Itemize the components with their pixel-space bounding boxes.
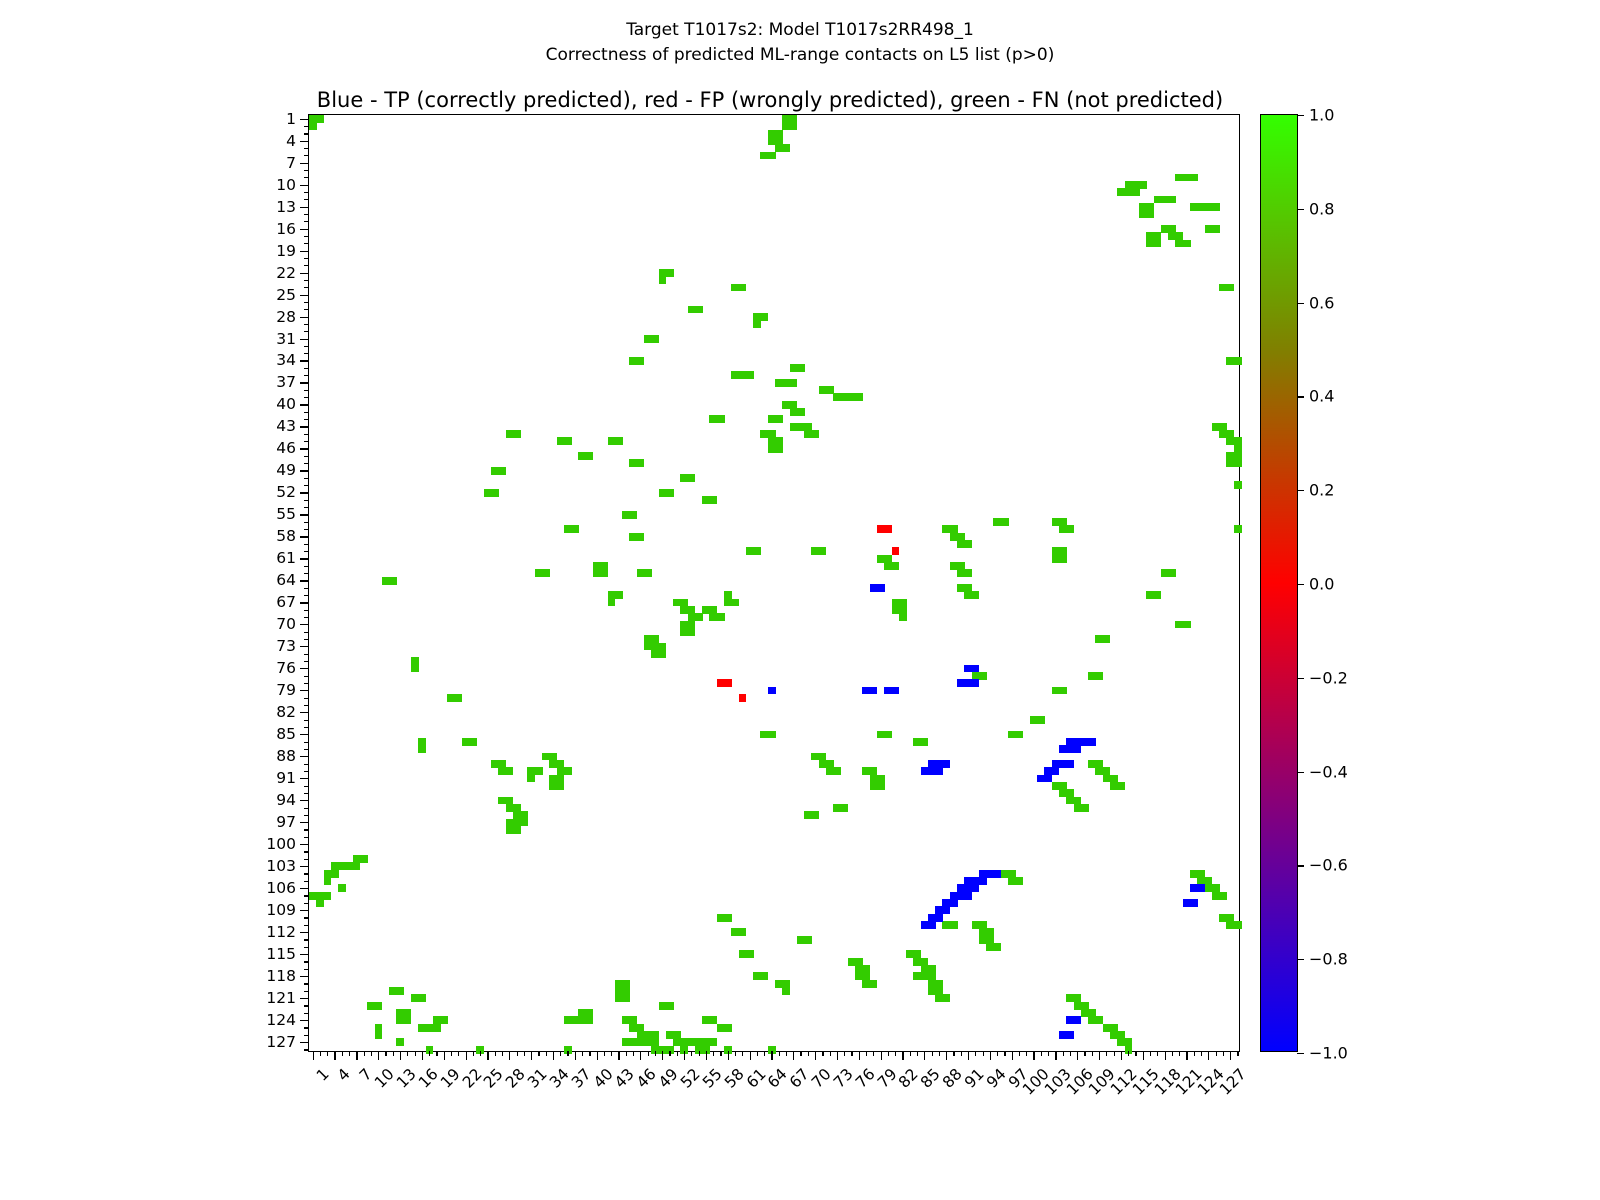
x-tick-minor xyxy=(1114,1051,1115,1056)
contact-cell-fn xyxy=(695,306,703,314)
y-tick-minor xyxy=(304,397,309,398)
contact-cell-tp xyxy=(1088,738,1096,746)
colorbar-tick xyxy=(1297,396,1304,397)
colorbar-tick xyxy=(1297,115,1304,116)
contact-cell-fn xyxy=(775,445,783,453)
contact-cell-tp xyxy=(892,687,900,695)
x-tick-minor xyxy=(648,1051,649,1056)
x-tick-minor xyxy=(364,1051,365,1056)
x-tick-minor xyxy=(800,1051,801,1056)
contact-cell-fn xyxy=(724,1024,732,1032)
contact-cell-fn xyxy=(637,533,645,541)
x-tick-minor xyxy=(524,1051,525,1056)
contact-cell-fn xyxy=(972,591,980,599)
y-tick-minor xyxy=(304,1013,309,1014)
y-tick-minor xyxy=(304,639,309,640)
colorbar-tick xyxy=(1297,865,1304,866)
y-tick-minor xyxy=(304,595,309,596)
contact-cell-fn xyxy=(746,371,754,379)
y-axis-tick-label: 13 xyxy=(276,198,296,216)
contact-cell-fn xyxy=(688,628,696,636)
contact-cell-fn xyxy=(586,452,594,460)
contact-cell-fn xyxy=(440,1016,448,1024)
contact-cell-fn xyxy=(644,569,652,577)
x-tick-minor xyxy=(480,1051,481,1056)
x-tick-minor xyxy=(961,1051,962,1056)
y-tick-major xyxy=(300,163,309,164)
y-tick-major xyxy=(300,602,309,603)
y-tick-major xyxy=(300,800,309,801)
y-tick-minor xyxy=(304,214,309,215)
contact-cell-fn xyxy=(615,591,623,599)
figure-canvas: Target T1017s2: Model T1017s2RR498_1 Cor… xyxy=(0,0,1600,1200)
contact-cell-fn xyxy=(651,1031,659,1039)
x-tick-minor xyxy=(1106,1051,1107,1056)
y-tick-minor xyxy=(304,148,309,149)
x-tick-minor xyxy=(342,1051,343,1056)
y-tick-minor xyxy=(304,829,309,830)
y-tick-minor xyxy=(304,346,309,347)
colorbar-tick-label: 0.2 xyxy=(1309,481,1334,500)
contact-cell-fn xyxy=(1146,210,1154,218)
contact-cell-fn xyxy=(855,393,863,401)
y-axis-tick-label: 118 xyxy=(266,967,296,985)
y-tick-minor xyxy=(304,287,309,288)
x-tick-minor xyxy=(669,1051,670,1056)
y-tick-major xyxy=(300,580,309,581)
y-tick-minor xyxy=(304,258,309,259)
contact-cell-tp xyxy=(950,899,958,907)
x-tick-major xyxy=(444,1051,445,1060)
x-tick-major xyxy=(1208,1051,1209,1060)
suptitle-line-2: Correctness of predicted ML-range contac… xyxy=(0,43,1600,68)
y-tick-minor xyxy=(304,793,309,794)
contact-cell-fn xyxy=(1154,240,1162,248)
contact-cell-tp xyxy=(964,892,972,900)
y-axis-tick-label: 4 xyxy=(286,132,296,150)
contact-cell-fn xyxy=(506,767,514,775)
x-tick-minor xyxy=(1237,1051,1238,1056)
contact-cell-fn xyxy=(1168,196,1176,204)
y-tick-major xyxy=(300,844,309,845)
x-tick-minor xyxy=(720,1051,721,1056)
x-tick-major xyxy=(684,1051,685,1060)
x-tick-minor xyxy=(932,1051,933,1056)
contact-cell-fn xyxy=(782,144,790,152)
y-tick-minor xyxy=(304,676,309,677)
contact-cell-fp xyxy=(892,547,900,555)
contact-cell-tp xyxy=(993,870,1001,878)
y-tick-major xyxy=(300,448,309,449)
x-tick-minor xyxy=(822,1051,823,1056)
contact-cell-fn xyxy=(790,379,798,387)
x-tick-major xyxy=(378,1051,379,1060)
contact-cell-fn xyxy=(1226,284,1234,292)
contact-cell-fn xyxy=(433,1024,441,1032)
contact-cell-fn xyxy=(396,1038,404,1046)
contact-cell-fn xyxy=(804,936,812,944)
contact-cell-fn xyxy=(768,731,776,739)
y-tick-minor xyxy=(304,698,309,699)
y-tick-minor xyxy=(304,434,309,435)
contact-cell-fn xyxy=(622,994,630,1002)
contact-cell-fn xyxy=(1234,357,1242,365)
contact-cell-fn xyxy=(892,562,900,570)
colorbar-tick-label: 0.4 xyxy=(1309,387,1334,406)
contact-cell-fn xyxy=(731,599,739,607)
x-tick-minor xyxy=(385,1051,386,1056)
contact-cell-fn xyxy=(870,980,878,988)
contact-cell-tp xyxy=(972,665,980,673)
y-axis-tick-label: 34 xyxy=(276,351,296,369)
x-tick-major xyxy=(728,1051,729,1060)
x-tick-minor xyxy=(1019,1051,1020,1056)
x-tick-minor xyxy=(517,1051,518,1056)
y-tick-major xyxy=(300,426,309,427)
x-tick-minor xyxy=(611,1051,612,1056)
y-tick-minor xyxy=(304,1035,309,1036)
y-tick-minor xyxy=(304,265,309,266)
x-tick-minor xyxy=(320,1051,321,1056)
contact-cell-fn xyxy=(316,899,324,907)
y-tick-major xyxy=(300,514,309,515)
contact-cell-fn xyxy=(309,122,317,130)
colorbar-gradient xyxy=(1261,115,1297,1051)
x-tick-major xyxy=(400,1051,401,1060)
x-tick-major xyxy=(575,1051,576,1060)
x-tick-minor xyxy=(1070,1051,1071,1056)
contact-cell-fn xyxy=(942,994,950,1002)
contact-cell-fn xyxy=(418,745,426,753)
contact-cell-fn xyxy=(921,738,929,746)
contact-cell-fn xyxy=(469,738,477,746)
contact-cell-fn xyxy=(884,731,892,739)
y-tick-major xyxy=(300,119,309,120)
y-tick-minor xyxy=(304,478,309,479)
y-tick-major xyxy=(300,668,309,669)
x-tick-minor xyxy=(939,1051,940,1056)
y-axis-tick-label: 31 xyxy=(276,330,296,348)
y-axis-tick-label: 91 xyxy=(276,769,296,787)
y-tick-minor xyxy=(304,961,309,962)
contact-cell-tp xyxy=(928,921,936,929)
x-tick-major xyxy=(1099,1051,1100,1060)
contact-map-cells xyxy=(309,115,1239,1051)
contact-cell-fn xyxy=(1066,525,1074,533)
x-tick-major xyxy=(466,1051,467,1060)
y-tick-minor xyxy=(304,192,309,193)
contact-cell-fn xyxy=(1183,240,1191,248)
contact-cell-fp xyxy=(724,679,732,687)
y-tick-minor xyxy=(304,375,309,376)
contact-cell-fn xyxy=(1183,621,1191,629)
contact-cell-fn xyxy=(833,767,841,775)
x-tick-major xyxy=(837,1051,838,1060)
y-tick-minor xyxy=(304,353,309,354)
contact-cell-fn xyxy=(768,152,776,160)
x-tick-minor xyxy=(830,1051,831,1056)
x-tick-major xyxy=(902,1051,903,1060)
y-axis-tick-label: 22 xyxy=(276,264,296,282)
y-tick-major xyxy=(300,1020,309,1021)
contact-map-plot[interactable]: 1471013161922252831343740434649525558616… xyxy=(308,114,1240,1052)
y-tick-minor xyxy=(304,522,309,523)
y-tick-minor xyxy=(304,991,309,992)
y-tick-minor xyxy=(304,280,309,281)
y-tick-minor xyxy=(304,463,309,464)
contact-cell-fn xyxy=(324,892,332,900)
colorbar-tick xyxy=(1297,959,1304,960)
y-tick-major xyxy=(300,185,309,186)
contact-cell-fn xyxy=(513,430,521,438)
y-tick-major xyxy=(300,866,309,867)
y-tick-major xyxy=(300,536,309,537)
contact-cell-fn xyxy=(979,672,987,680)
contact-cell-tp xyxy=(935,767,943,775)
y-tick-minor xyxy=(304,873,309,874)
y-tick-major xyxy=(300,712,309,713)
y-axis-tick-label: 7 xyxy=(286,154,296,172)
contact-cell-tp xyxy=(1074,745,1082,753)
y-axis-tick-label: 58 xyxy=(276,527,296,545)
x-tick-minor xyxy=(779,1051,780,1056)
x-tick-minor xyxy=(1063,1051,1064,1056)
x-axis-tick-label: 4 xyxy=(335,1065,355,1085)
x-tick-major xyxy=(640,1051,641,1060)
x-tick-major xyxy=(750,1051,751,1060)
x-tick-minor xyxy=(983,1051,984,1056)
contact-cell-fn xyxy=(877,782,885,790)
x-tick-major xyxy=(968,1051,969,1060)
contact-cell-fn xyxy=(819,547,827,555)
x-tick-minor xyxy=(1216,1051,1217,1056)
y-tick-minor xyxy=(304,903,309,904)
y-tick-minor xyxy=(304,808,309,809)
x-tick-minor xyxy=(407,1051,408,1056)
x-tick-minor xyxy=(1128,1051,1129,1056)
y-tick-minor xyxy=(304,419,309,420)
y-tick-minor xyxy=(304,243,309,244)
x-tick-minor xyxy=(1041,1051,1042,1056)
y-tick-major xyxy=(300,1042,309,1043)
y-axis-tick-label: 61 xyxy=(276,549,296,567)
contact-cell-fn xyxy=(659,650,667,658)
contact-cell-fn xyxy=(375,1031,383,1039)
y-tick-minor xyxy=(304,412,309,413)
x-tick-minor xyxy=(1092,1051,1093,1056)
y-tick-minor xyxy=(304,485,309,486)
x-tick-minor xyxy=(691,1051,692,1056)
y-tick-major xyxy=(300,822,309,823)
x-tick-minor xyxy=(436,1051,437,1056)
x-tick-major xyxy=(1230,1051,1231,1060)
contact-cell-fn xyxy=(724,591,732,599)
x-tick-minor xyxy=(415,1051,416,1056)
contact-cell-fn xyxy=(491,489,499,497)
figure-suptitle: Target T1017s2: Model T1017s2RR498_1 Cor… xyxy=(0,18,1600,67)
x-tick-minor xyxy=(713,1051,714,1056)
y-axis-tick-label: 109 xyxy=(266,901,296,919)
contact-cell-fn xyxy=(1190,174,1198,182)
contact-cell-fn xyxy=(608,599,616,607)
y-axis-tick-label: 25 xyxy=(276,286,296,304)
contact-cell-tp xyxy=(877,584,885,592)
contact-cell-tp xyxy=(1066,760,1074,768)
contact-cell-fn xyxy=(1234,921,1242,929)
contact-cell-fn xyxy=(666,1002,674,1010)
y-tick-major xyxy=(300,646,309,647)
x-axis-tick-label: 1 xyxy=(313,1065,333,1085)
y-tick-major xyxy=(300,756,309,757)
y-tick-minor xyxy=(304,815,309,816)
y-tick-major xyxy=(300,998,309,999)
x-tick-minor xyxy=(589,1051,590,1056)
y-tick-major xyxy=(300,910,309,911)
x-tick-major xyxy=(881,1051,882,1060)
x-tick-major xyxy=(990,1051,991,1060)
x-tick-minor xyxy=(888,1051,889,1056)
contact-cell-fn xyxy=(375,1002,383,1010)
x-tick-minor xyxy=(546,1051,547,1056)
y-axis-tick-label: 10 xyxy=(276,176,296,194)
y-tick-major xyxy=(300,976,309,977)
contact-cell-tp xyxy=(942,760,950,768)
x-tick-minor xyxy=(429,1051,430,1056)
contact-cell-fn xyxy=(724,914,732,922)
contact-cell-fn xyxy=(1001,518,1009,526)
x-tick-major xyxy=(334,1051,335,1060)
contact-cell-fn xyxy=(709,1038,717,1046)
x-tick-major xyxy=(1121,1051,1122,1060)
contact-cell-fn xyxy=(615,437,623,445)
x-tick-minor xyxy=(997,1051,998,1056)
y-tick-minor xyxy=(304,851,309,852)
x-tick-minor xyxy=(917,1051,918,1056)
colorbar-tick xyxy=(1297,1053,1304,1054)
contact-cell-fn xyxy=(768,430,776,438)
y-tick-major xyxy=(300,229,309,230)
x-tick-minor xyxy=(538,1051,539,1056)
x-tick-minor xyxy=(1150,1051,1151,1056)
contact-cell-fn xyxy=(1154,591,1162,599)
x-tick-minor xyxy=(560,1051,561,1056)
contact-cell-fn xyxy=(411,665,419,673)
y-axis-tick-label: 97 xyxy=(276,813,296,831)
y-tick-minor xyxy=(304,500,309,501)
contact-cell-fn xyxy=(811,811,819,819)
y-axis-tick-label: 100 xyxy=(266,835,296,853)
x-tick-minor xyxy=(975,1051,976,1056)
x-tick-minor xyxy=(502,1051,503,1056)
y-tick-major xyxy=(300,317,309,318)
y-tick-major xyxy=(300,734,309,735)
contact-cell-tp xyxy=(862,687,870,695)
y-tick-major xyxy=(300,273,309,274)
y-tick-minor xyxy=(304,588,309,589)
suptitle-line-1: Target T1017s2: Model T1017s2RR498_1 xyxy=(0,18,1600,43)
x-tick-minor xyxy=(451,1051,452,1056)
y-axis-tick-label: 40 xyxy=(276,395,296,413)
contact-cell-fn xyxy=(659,276,667,284)
x-tick-minor xyxy=(1026,1051,1027,1056)
colorbar-tick-label: −1.0 xyxy=(1309,1044,1348,1063)
y-tick-minor xyxy=(304,939,309,940)
y-tick-major xyxy=(300,339,309,340)
x-tick-minor xyxy=(371,1051,372,1056)
contact-cell-fn xyxy=(753,320,761,328)
contact-cell-fn xyxy=(760,313,768,321)
x-tick-minor xyxy=(1084,1051,1085,1056)
contact-cell-fn xyxy=(564,437,572,445)
y-tick-minor xyxy=(304,969,309,970)
y-tick-minor xyxy=(304,441,309,442)
colorbar-tick-label: 0.0 xyxy=(1309,575,1334,594)
x-tick-major xyxy=(1077,1051,1078,1060)
contact-cell-fn xyxy=(1015,877,1023,885)
contact-cell-fn xyxy=(1095,672,1103,680)
y-tick-minor xyxy=(304,917,309,918)
y-tick-minor xyxy=(304,859,309,860)
colorbar-tick-label: 0.8 xyxy=(1309,199,1334,218)
contact-cell-fn xyxy=(396,987,404,995)
contact-cell-fn xyxy=(637,459,645,467)
x-tick-major xyxy=(662,1051,663,1060)
y-axis-tick-label: 64 xyxy=(276,571,296,589)
x-tick-major xyxy=(553,1051,554,1060)
contact-cell-fn xyxy=(1234,525,1242,533)
y-tick-minor xyxy=(304,983,309,984)
contact-cell-tp xyxy=(1197,884,1205,892)
y-tick-minor xyxy=(304,925,309,926)
x-tick-minor xyxy=(349,1051,350,1056)
y-axis-tick-label: 1 xyxy=(286,110,296,128)
x-tick-major xyxy=(313,1051,314,1060)
y-axis-tick-label: 28 xyxy=(276,308,296,326)
y-tick-minor xyxy=(304,566,309,567)
contact-cell-fp xyxy=(884,525,892,533)
y-tick-major xyxy=(300,558,309,559)
y-tick-minor xyxy=(304,654,309,655)
y-tick-minor xyxy=(304,1027,309,1028)
y-tick-minor xyxy=(304,177,309,178)
y-axis-tick-label: 121 xyxy=(266,989,296,1007)
x-tick-minor xyxy=(1201,1051,1202,1056)
x-tick-major xyxy=(356,1051,357,1060)
contact-cell-fn xyxy=(1219,892,1227,900)
x-tick-minor xyxy=(757,1051,758,1056)
y-tick-minor xyxy=(304,749,309,750)
contact-cell-fn xyxy=(389,577,397,585)
contact-cell-fn xyxy=(1059,687,1067,695)
x-tick-minor xyxy=(735,1051,736,1056)
contact-cell-fn xyxy=(1234,481,1242,489)
y-tick-major xyxy=(300,932,309,933)
x-tick-minor xyxy=(1172,1051,1173,1056)
y-tick-major xyxy=(300,207,309,208)
x-tick-minor xyxy=(1048,1051,1049,1056)
contact-cell-fn xyxy=(1168,569,1176,577)
contact-cell-fn xyxy=(513,826,521,834)
y-axis-tick-label: 85 xyxy=(276,725,296,743)
colorbar-tick-label: 1.0 xyxy=(1309,106,1334,125)
y-axis-tick-label: 79 xyxy=(276,681,296,699)
x-tick-major xyxy=(1055,1051,1056,1060)
x-tick-minor xyxy=(495,1051,496,1056)
x-tick-minor xyxy=(327,1051,328,1056)
y-tick-minor xyxy=(304,947,309,948)
x-tick-minor xyxy=(873,1051,874,1056)
contact-cell-fn xyxy=(1197,203,1205,211)
